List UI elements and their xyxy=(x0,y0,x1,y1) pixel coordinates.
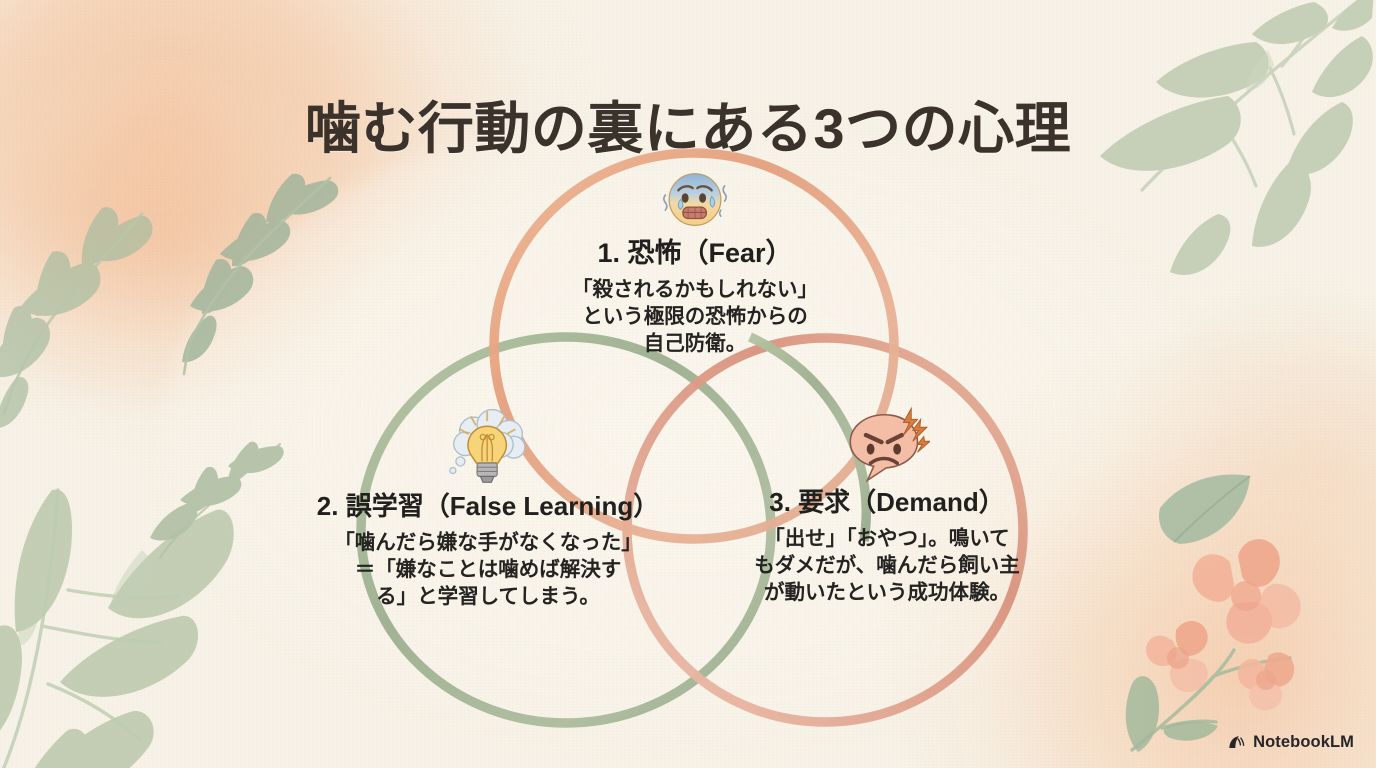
venn-heading-fear: 1. 恐怖（Fear） xyxy=(545,238,845,269)
venn-cell-demand: 3. 要求（Demand） 「出せ」「おやつ」。鳴いて もダメだが、噛んだら飼い… xyxy=(722,406,1052,606)
lightbulb-thought-bubble-icon xyxy=(308,406,668,490)
page-title: 噛む行動の裏にある3つの心理 xyxy=(0,84,1376,165)
venn-body-line: 「噛んだら嫌な手がなくなった」 xyxy=(308,529,668,556)
notebooklm-watermark-label: NotebookLM xyxy=(1253,733,1354,752)
venn-cell-false-learning: 2. 誤学習（False Learning） 「噛んだら嫌な手がなくなった」 ＝… xyxy=(308,406,668,610)
single-leaf-icon xyxy=(1154,468,1264,558)
venn-body-line: が動いたという成功体験。 xyxy=(722,579,1052,606)
flower-sprig-icon xyxy=(1122,508,1342,758)
venn-heading-demand: 3. 要求（Demand） xyxy=(722,488,1052,518)
venn-heading-false-learning: 2. 誤学習（False Learning） xyxy=(308,492,668,522)
angry-speech-bubble-icon xyxy=(722,406,1052,486)
leaf-sprig-left-icon xyxy=(0,200,170,430)
watercolor-wash-right-middle xyxy=(1126,300,1376,640)
venn-body-line: という極限の恐怖からの xyxy=(545,303,845,330)
venn-body-line: ＝「嫌なことは噛めば解決す xyxy=(308,556,668,583)
venn-body-false-learning: 「噛んだら嫌な手がなくなった」 ＝「嫌なことは噛めば解決す る」と学習してしまう… xyxy=(308,529,668,610)
slide-canvas: 噛む行動の裏にある3つの心理 xyxy=(0,0,1376,768)
venn-body-line: 「出せ」「おやつ」。鳴いて xyxy=(722,525,1052,552)
venn-body-line: る」と学習してしまう。 xyxy=(308,583,668,610)
venn-body-line: 「殺されるかもしれない」 xyxy=(545,276,845,303)
venn-diagram: 1. 恐怖（Fear） 「殺されるかもしれない」 という極限の恐怖からの 自己防… xyxy=(298,138,1088,738)
venn-body-demand: 「出せ」「おやつ」。鳴いて もダメだが、噛んだら飼い主 が動いたという成功体験。 xyxy=(722,525,1052,606)
notebooklm-watermark: NotebookLM xyxy=(1227,733,1354,752)
tiny-leaf-sprig-icon xyxy=(150,440,300,570)
large-leaf-branch-icon xyxy=(0,430,332,768)
venn-cell-fear: 1. 恐怖（Fear） 「殺されるかもしれない」 という極限の恐怖からの 自己防… xyxy=(545,160,845,357)
venn-body-line: 自己防衛。 xyxy=(545,330,845,357)
anxious-face-with-sweat-icon xyxy=(545,160,845,236)
notebooklm-logo-icon xyxy=(1227,733,1246,752)
venn-body-line: もダメだが、噛んだら飼い主 xyxy=(722,552,1052,579)
venn-body-fear: 「殺されるかもしれない」 という極限の恐怖からの 自己防衛。 xyxy=(545,276,845,357)
